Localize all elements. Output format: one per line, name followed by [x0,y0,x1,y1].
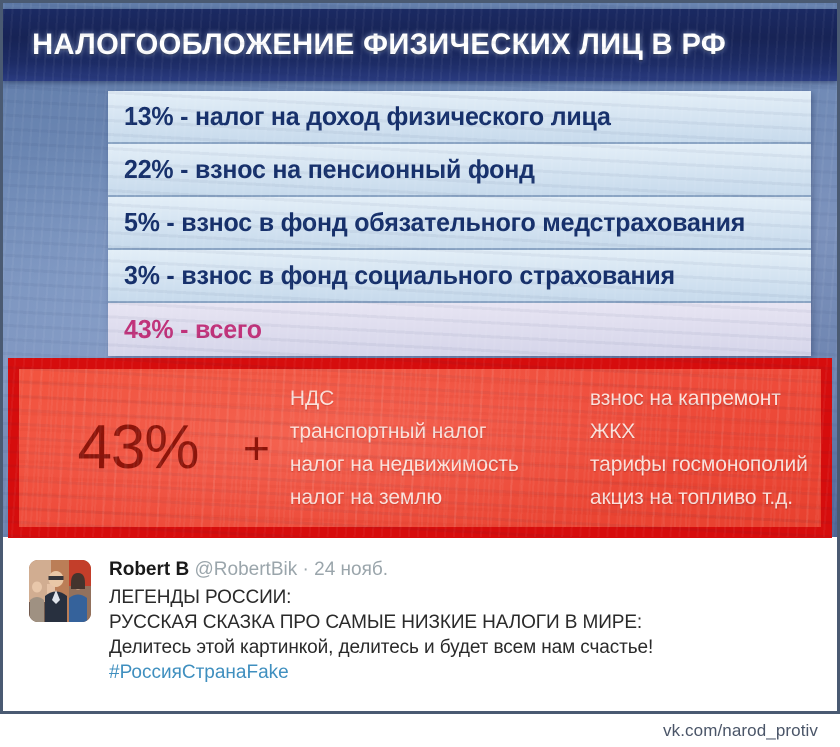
tax-table: 13% - налог на доход физического лица 22… [108,91,811,356]
tweet-date[interactable]: 24 нояб. [314,559,388,580]
avatar-photo [29,560,91,622]
tweet-author-name[interactable]: Robert B [109,559,189,580]
list-item: НДС [290,387,590,411]
infographic-image: НАЛОГООБЛОЖЕНИЕ ФИЗИЧЕСКИХ ЛИЦ В РФ 13% … [3,3,837,537]
avatar[interactable] [29,560,91,622]
list-item: налог на землю [290,486,590,510]
tweet-header: Robert B @RobertBik · 24 нояб. [109,558,817,582]
table-row-total: 43% - всего [108,303,811,356]
tweet-handle[interactable]: @RobertBik [195,559,298,580]
tax-row-label: 22% - взнос на пенсионный фонд [124,154,535,185]
extra-taxes-left-column: НДС транспортный налог налог на недвижим… [290,387,590,510]
tweet-body: Robert B @RobertBik · 24 нояб. ЛЕГЕНДЫ Р… [109,558,817,711]
source-watermark: vk.com/narod_protiv [663,721,818,741]
list-item: ЖКХ [590,420,840,444]
table-row: 22% - взнос на пенсионный фонд [108,144,811,197]
red-callout-inner: 43% + НДС транспортный налог налог на не… [19,369,821,527]
list-item: налог на недвижимость [290,453,590,477]
list-item: транспортный налог [290,420,590,444]
tweet-text-line: РУССКАЯ СКАЗКА ПРО САМЫЕ НИЗКИЕ НАЛОГИ В… [109,610,817,635]
tweet-separator: · [303,559,309,580]
list-item: взнос на капремонт [590,387,840,411]
tax-row-label: 5% - взнос в фонд обязательного медстрах… [124,207,745,238]
tax-row-label: 3% - взнос в фонд социального страховани… [124,260,675,291]
red-callout-block: 43% + НДС транспортный налог налог на не… [8,358,832,538]
page-title: НАЛОГООБЛОЖЕНИЕ ФИЗИЧЕСКИХ ЛИЦ В РФ [3,28,726,62]
plus-sign-icon: + [243,425,270,471]
list-item: акциз на топливо т.д. [590,486,840,510]
tax-row-total-label: 43% - всего [124,314,262,345]
table-row: 5% - взнос в фонд обязательного медстрах… [108,197,811,250]
total-percent-value: 43% [19,417,251,479]
table-row: 3% - взнос в фонд социального страховани… [108,250,811,303]
post-frame: НАЛОГООБЛОЖЕНИЕ ФИЗИЧЕСКИХ ЛИЦ В РФ 13% … [0,0,840,714]
tweet-text-line: Делитесь этой картинкой, делитесь и буде… [109,635,817,660]
tax-row-label: 13% - налог на доход физического лица [124,101,611,132]
infographic-title-bar: НАЛОГООБЛОЖЕНИЕ ФИЗИЧЕСКИХ ЛИЦ В РФ [3,9,837,81]
footer-bar: vk.com/narod_protiv [0,714,840,747]
table-row: 13% - налог на доход физического лица [108,91,811,144]
tweet-block: Robert B @RobertBik · 24 нояб. ЛЕГЕНДЫ Р… [3,540,837,711]
extra-taxes-right-column: взнос на капремонт ЖКХ тарифы госмонопол… [590,387,840,510]
tweet-hashtag-link[interactable]: #РоссияСтранаFake [109,660,817,685]
tweet-text-line: ЛЕГЕНДЫ РОССИИ: [109,585,817,610]
list-item: тарифы госмонополий [590,453,840,477]
